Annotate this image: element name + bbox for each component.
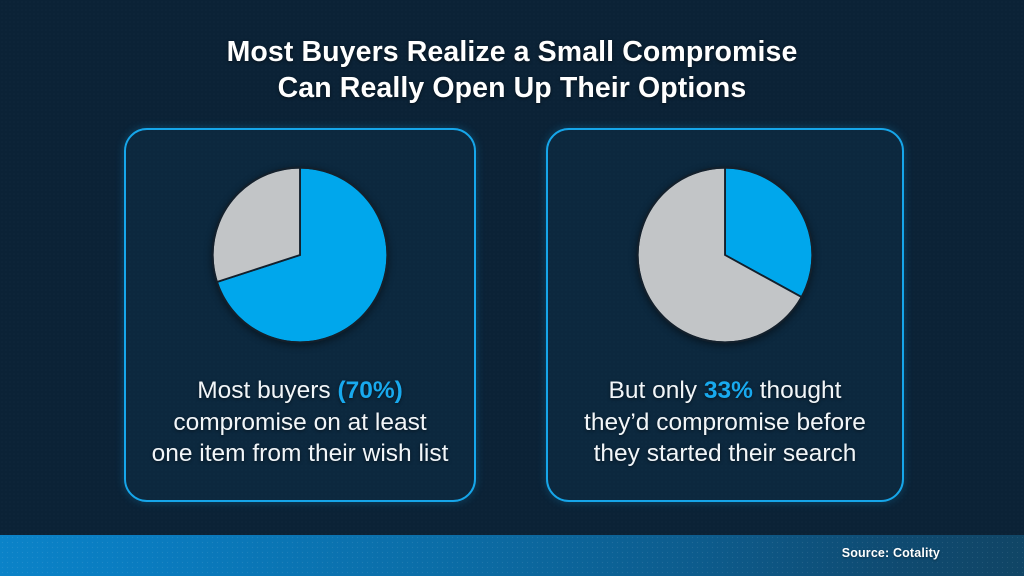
stat-card-right: But only 33% thought they’d compromise b…	[546, 128, 904, 502]
title-line-2: Can Really Open Up Their Options	[0, 70, 1024, 106]
caption-right-line-3: they started their search	[558, 438, 892, 470]
caption-left-line-1: Most buyers (70%)	[136, 375, 464, 407]
caption-right-highlight: 33%	[704, 377, 753, 404]
caption-left-line-3: one item from their wish list	[136, 438, 464, 470]
caption-right-line-1-post: thought	[753, 377, 842, 404]
pie-chart-right	[633, 163, 817, 347]
caption-left-line-2: compromise on at least	[136, 407, 464, 439]
pie-chart-left	[208, 163, 392, 347]
caption-right-line-1: But only 33% thought	[558, 375, 892, 407]
title-line-1: Most Buyers Realize a Small Compromise	[0, 34, 1024, 70]
source-attribution: Source: Cotality	[842, 546, 940, 560]
caption-left-line-1-pre: Most buyers	[197, 377, 337, 404]
footer-bar: Source: Cotality	[0, 535, 1024, 576]
caption-right-line-2: they’d compromise before	[558, 407, 892, 439]
caption-left-highlight: (70%)	[337, 377, 402, 404]
infographic-slide: Most Buyers Realize a Small Compromise C…	[0, 0, 1024, 576]
pie-chart-right-container	[548, 163, 902, 347]
caption-left: Most buyers (70%) compromise on at least…	[136, 375, 464, 470]
caption-right-line-1-pre: But only	[609, 377, 704, 404]
stat-card-left: Most buyers (70%) compromise on at least…	[124, 128, 476, 502]
caption-right: But only 33% thought they’d compromise b…	[558, 375, 892, 470]
page-title: Most Buyers Realize a Small Compromise C…	[0, 34, 1024, 106]
pie-chart-left-container	[126, 163, 474, 347]
